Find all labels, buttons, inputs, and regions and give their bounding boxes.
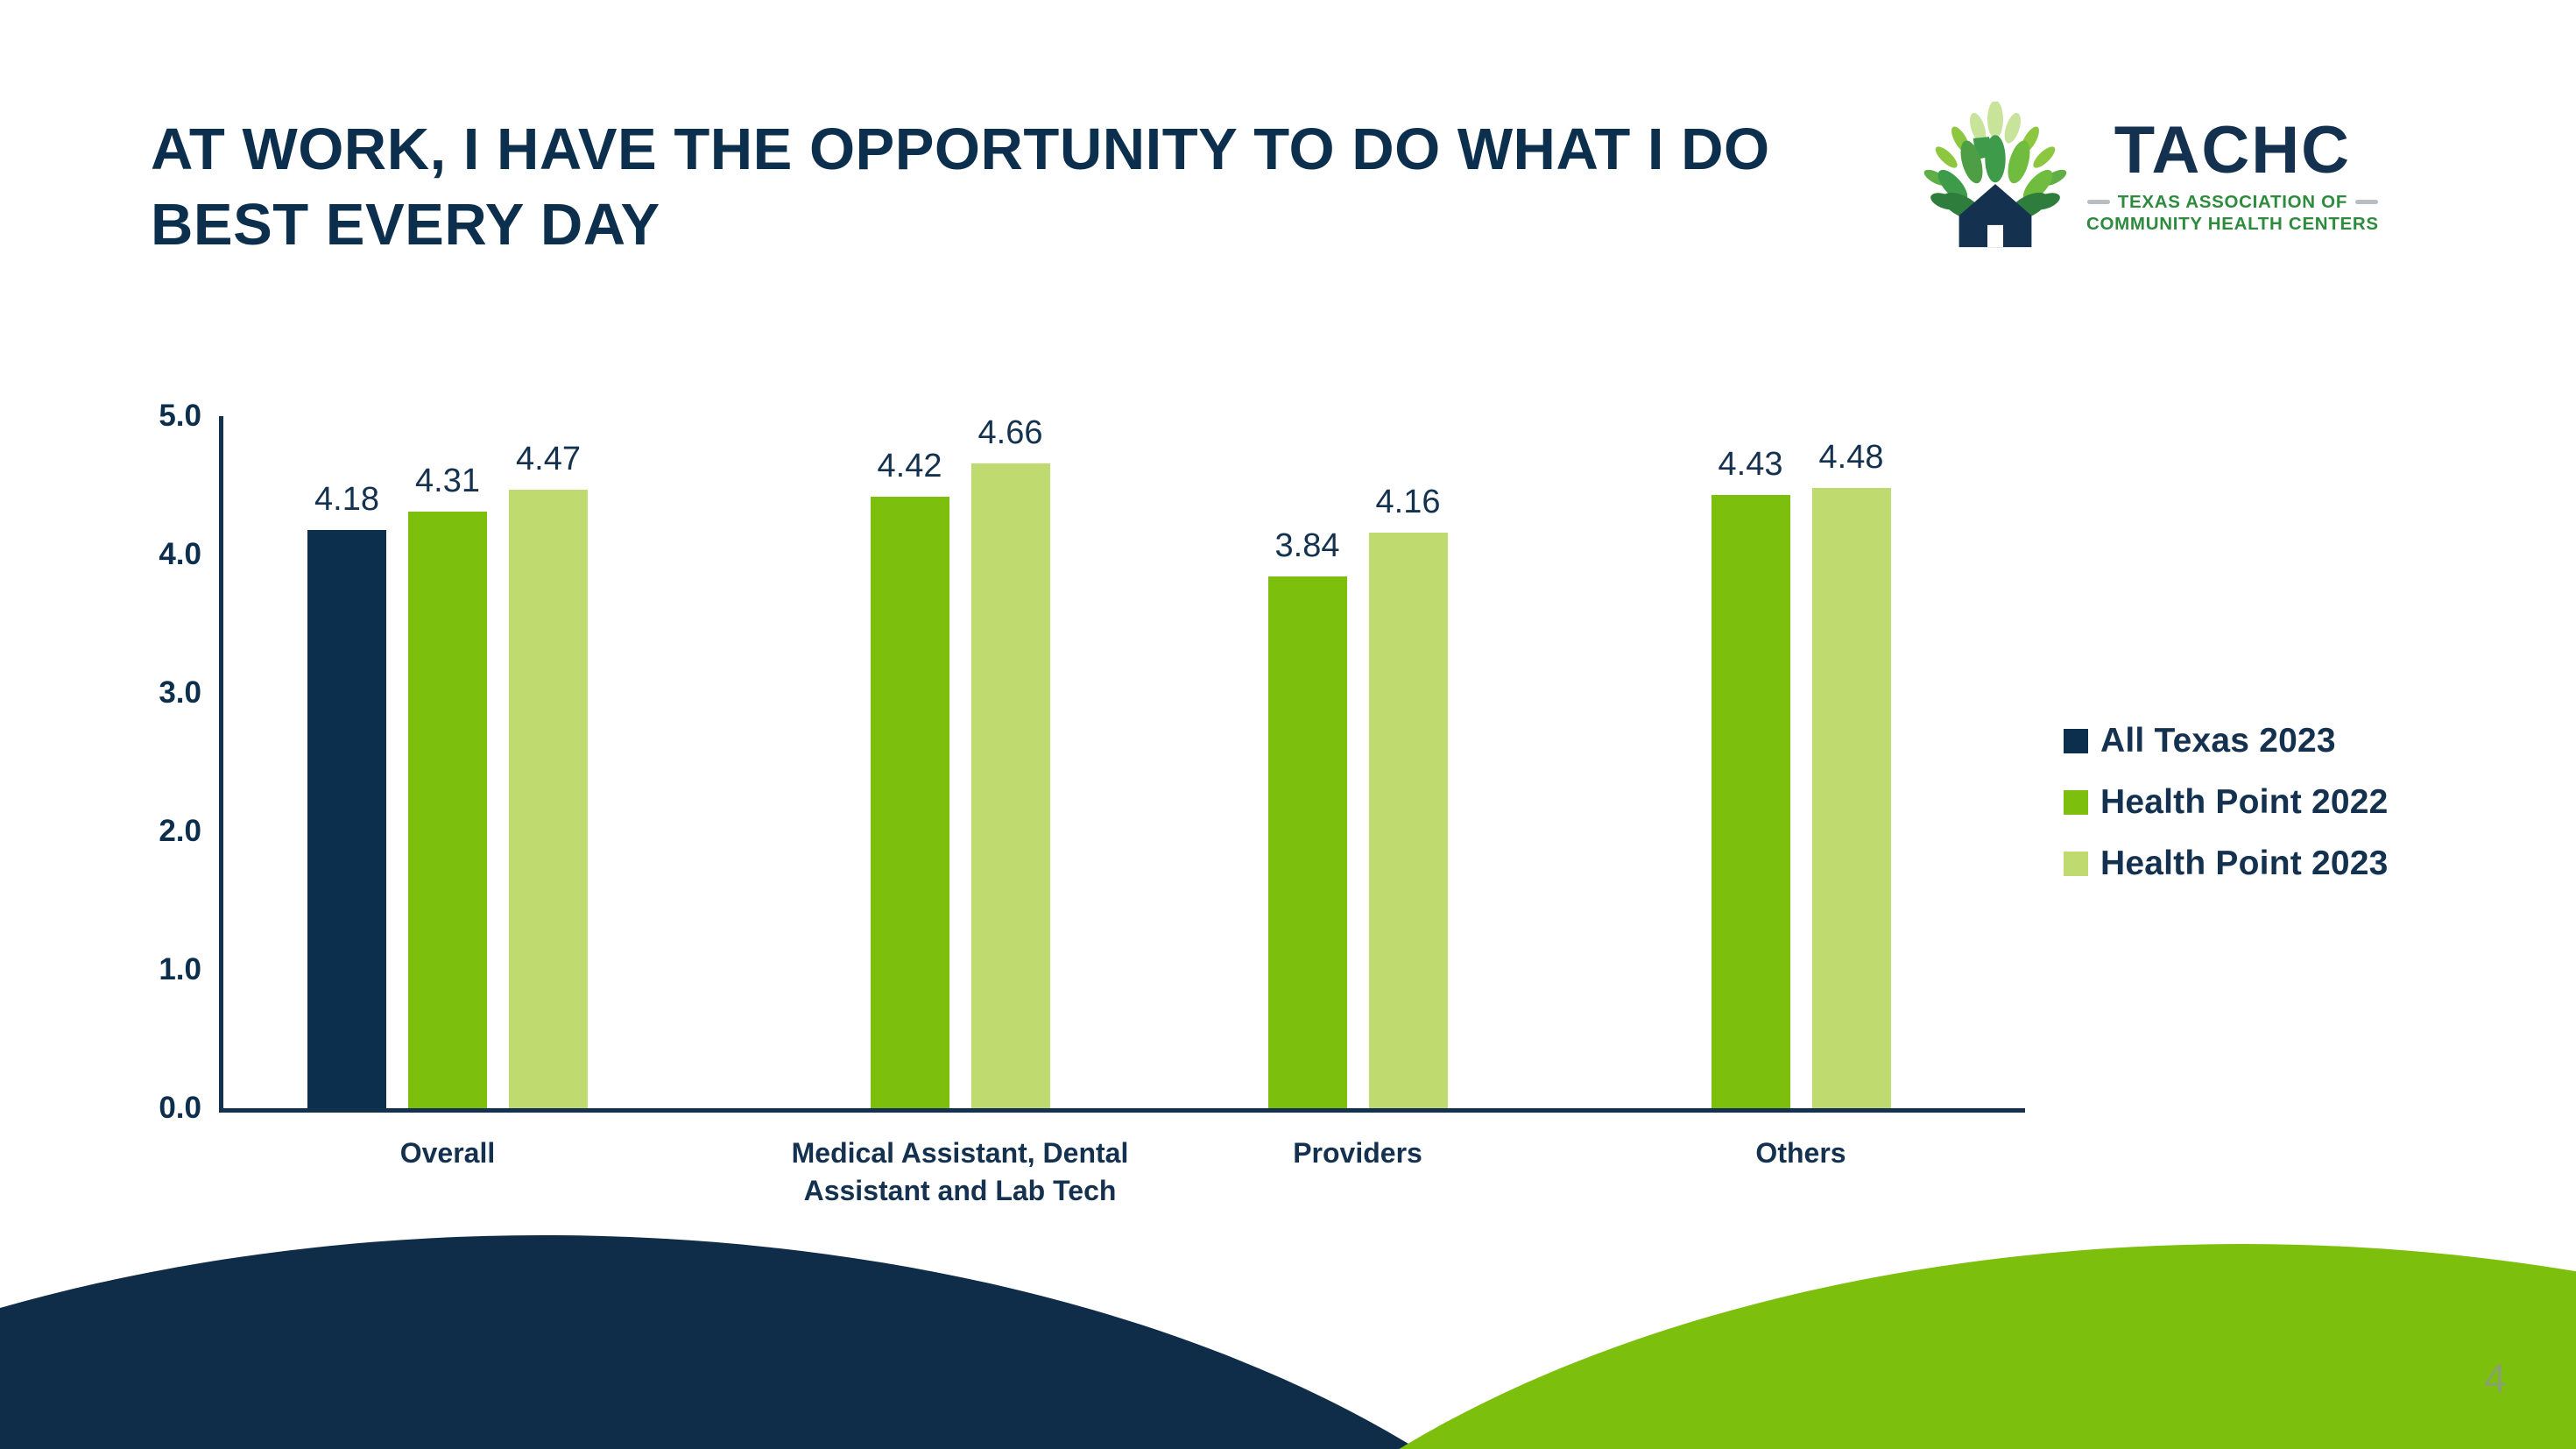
- legend-swatch-icon: [2064, 790, 2088, 815]
- legend-swatch-icon: [2064, 729, 2088, 753]
- bar: [971, 463, 1050, 1108]
- y-axis-tick-label: 0.0: [96, 1091, 201, 1126]
- bar: [307, 530, 386, 1108]
- bar: [871, 497, 949, 1108]
- bar-value-label: 4.16: [1343, 484, 1474, 521]
- bar-value-label: 4.47: [483, 441, 614, 478]
- legend-label: Health Point 2023: [2100, 845, 2389, 883]
- y-axis-tick-label: 4.0: [96, 537, 201, 572]
- x-axis-category-label: Overall: [220, 1134, 675, 1172]
- legend-label: All Texas 2023: [2100, 722, 2336, 760]
- legend-swatch-icon: [2064, 852, 2088, 876]
- bar: [1268, 576, 1347, 1108]
- bar: [408, 512, 487, 1108]
- y-axis-line: [219, 416, 223, 1113]
- x-axis-category-label: Providers: [1130, 1134, 1585, 1172]
- bar-value-label: 4.48: [1786, 439, 1917, 477]
- bar-value-label: 4.42: [844, 448, 976, 485]
- bar: [1369, 533, 1448, 1108]
- slide-root: AT WORK, I HAVE THE OPPORTUNITY TO DO WH…: [0, 0, 2576, 1449]
- legend-label: Health Point 2022: [2100, 783, 2389, 822]
- slide-number: 4: [2484, 1354, 2507, 1402]
- legend-item[interactable]: All Texas 2023: [2064, 722, 2389, 760]
- bar: [1812, 488, 1891, 1108]
- bar: [1711, 495, 1790, 1108]
- legend-item[interactable]: Health Point 2023: [2064, 845, 2389, 883]
- x-axis-category-label: Others: [1573, 1134, 2029, 1172]
- x-axis-line: [219, 1108, 2025, 1113]
- chart-legend: All Texas 2023Health Point 2022Health Po…: [2064, 722, 2389, 906]
- y-axis-tick-label: 1.0: [96, 952, 201, 987]
- bar-value-label: 4.66: [945, 414, 1076, 452]
- y-axis-tick-label: 2.0: [96, 814, 201, 849]
- bar: [509, 490, 588, 1108]
- bar-value-label: 3.84: [1242, 527, 1373, 565]
- x-axis-category-label: Medical Assistant, Dental Assistant and …: [732, 1134, 1188, 1210]
- legend-item[interactable]: Health Point 2022: [2064, 783, 2389, 822]
- y-axis-tick-label: 5.0: [96, 399, 201, 434]
- y-axis-tick-label: 3.0: [96, 675, 201, 710]
